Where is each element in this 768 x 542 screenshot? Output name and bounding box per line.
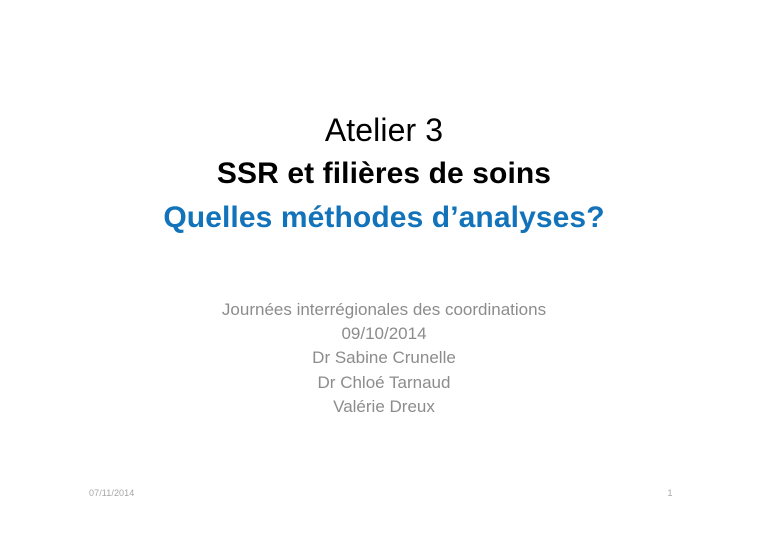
subtitle-line-author-3: Valérie Dreux [0, 395, 768, 419]
slide-title-block: Atelier 3 SSR et filières de soins Quell… [0, 108, 768, 240]
subtitle-line-author-2: Dr Chloé Tarnaud [0, 371, 768, 395]
title-line-3: Quelles méthodes d’analyses? [0, 196, 768, 240]
subtitle-line-event: Journées interrégionales des coordinatio… [0, 298, 768, 322]
footer-date: 07/11/2014 [89, 487, 134, 499]
presentation-slide: Atelier 3 SSR et filières de soins Quell… [0, 0, 768, 542]
footer-page-number: 1 [640, 487, 700, 499]
title-line-2: SSR et filières de soins [0, 152, 768, 196]
slide-subtitle-block: Journées interrégionales des coordinatio… [0, 298, 768, 419]
subtitle-line-date: 09/10/2014 [0, 322, 768, 346]
subtitle-line-author-1: Dr Sabine Crunelle [0, 346, 768, 370]
title-line-1: Atelier 3 [0, 108, 768, 152]
